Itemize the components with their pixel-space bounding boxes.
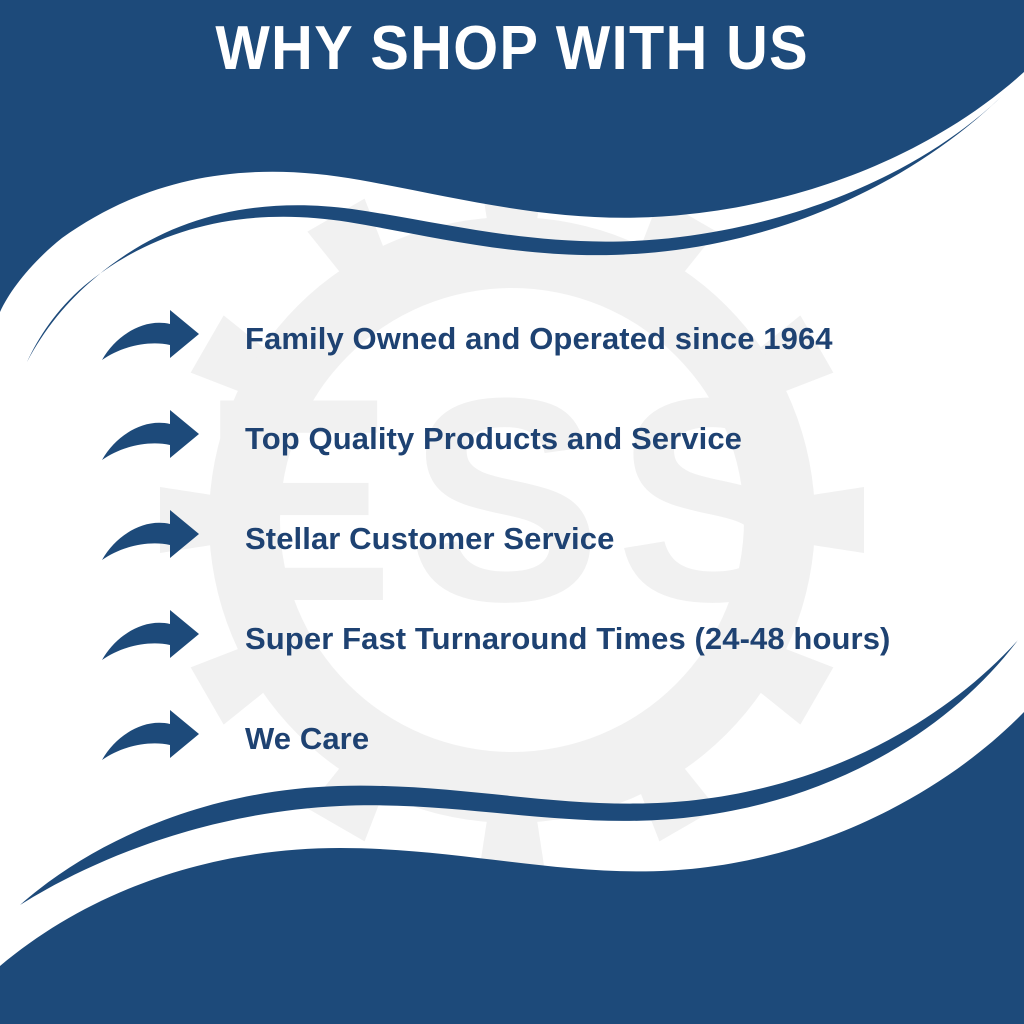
- list-item: Family Owned and Operated since 1964: [100, 288, 960, 388]
- curved-arrow-right-icon: [100, 709, 200, 767]
- curved-arrow-right-icon: [100, 309, 200, 367]
- list-item: Super Fast Turnaround Times (24-48 hours…: [100, 588, 960, 688]
- benefit-label: We Care: [245, 723, 369, 754]
- list-item: Top Quality Products and Service: [100, 388, 960, 488]
- page-title: WHY SHOP WITH US: [215, 18, 809, 80]
- curved-arrow-right-icon: [100, 509, 200, 567]
- curved-arrow-right-icon: [100, 609, 200, 667]
- benefit-label: Super Fast Turnaround Times (24-48 hours…: [245, 623, 890, 654]
- benefits-list: Family Owned and Operated since 1964 Top…: [100, 288, 960, 788]
- list-item: We Care: [100, 688, 960, 788]
- benefit-label: Family Owned and Operated since 1964: [245, 323, 833, 354]
- list-item: Stellar Customer Service: [100, 488, 960, 588]
- benefit-label: Top Quality Products and Service: [245, 423, 742, 454]
- benefit-label: Stellar Customer Service: [245, 523, 614, 554]
- curved-arrow-right-icon: [100, 409, 200, 467]
- poster-canvas: ESS WHY SHOP WITH US Family Owned and Op…: [0, 0, 1024, 1024]
- top-wave-band: [0, 0, 1024, 312]
- header-band: WHY SHOP WITH US: [0, 0, 1024, 100]
